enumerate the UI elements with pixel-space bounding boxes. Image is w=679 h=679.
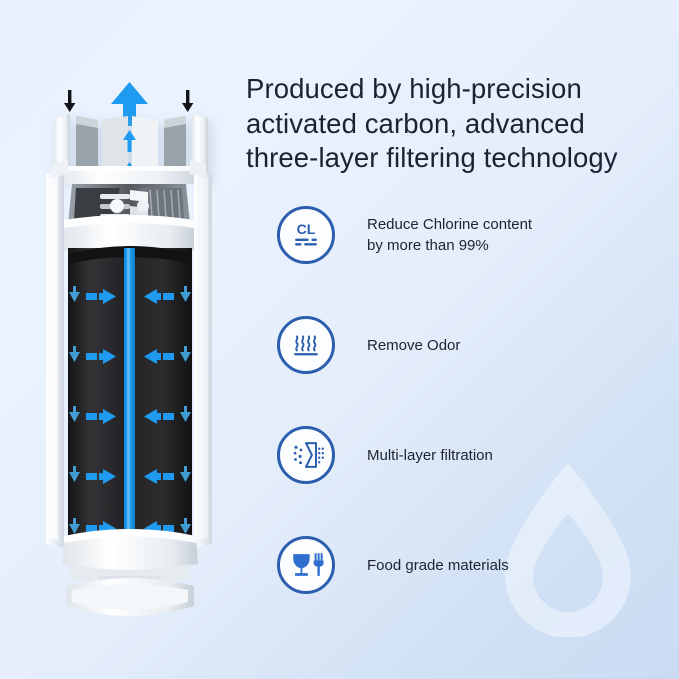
chlorine-cl-icon: CL (277, 206, 335, 264)
headline: Produced by high-precision activated car… (246, 72, 666, 176)
feature-item-food-grade: Food grade materials (277, 536, 677, 646)
headline-line-2: activated carbon, advanced (246, 107, 666, 142)
feature-label-chlorine: Reduce Chlorine content by more than 99% (367, 206, 532, 264)
feature-label-line-1: Reduce Chlorine content (367, 214, 532, 235)
odor-steam-icon (277, 316, 335, 374)
feature-label-line-1: Food grade materials (367, 555, 509, 576)
headline-line-1: Produced by high-precision (246, 72, 666, 107)
feature-list: CL Reduce Chlorine content by more than … (277, 206, 677, 646)
food-grade-glass-fork-icon (277, 536, 335, 594)
svg-text:CL: CL (297, 221, 316, 237)
feature-label-line-1: Remove Odor (367, 335, 460, 356)
multi-layer-filter-icon (277, 426, 335, 484)
feature-label-food-grade: Food grade materials (367, 536, 509, 594)
water-filter-cartridge-image (24, 78, 234, 623)
headline-line-3: three-layer filtering technology (246, 141, 666, 176)
feature-item-chlorine: CL Reduce Chlorine content by more than … (277, 206, 677, 316)
feature-label-odor: Remove Odor (367, 316, 460, 374)
product-feature-banner: Produced by high-precision activated car… (0, 0, 679, 679)
feature-label-line-1: Multi-layer filtration (367, 445, 493, 466)
feature-item-odor: Remove Odor (277, 316, 677, 426)
feature-item-filtration: Multi-layer filtration (277, 426, 677, 536)
feature-label-filtration: Multi-layer filtration (367, 426, 493, 484)
feature-label-line-2: by more than 99% (367, 235, 532, 256)
